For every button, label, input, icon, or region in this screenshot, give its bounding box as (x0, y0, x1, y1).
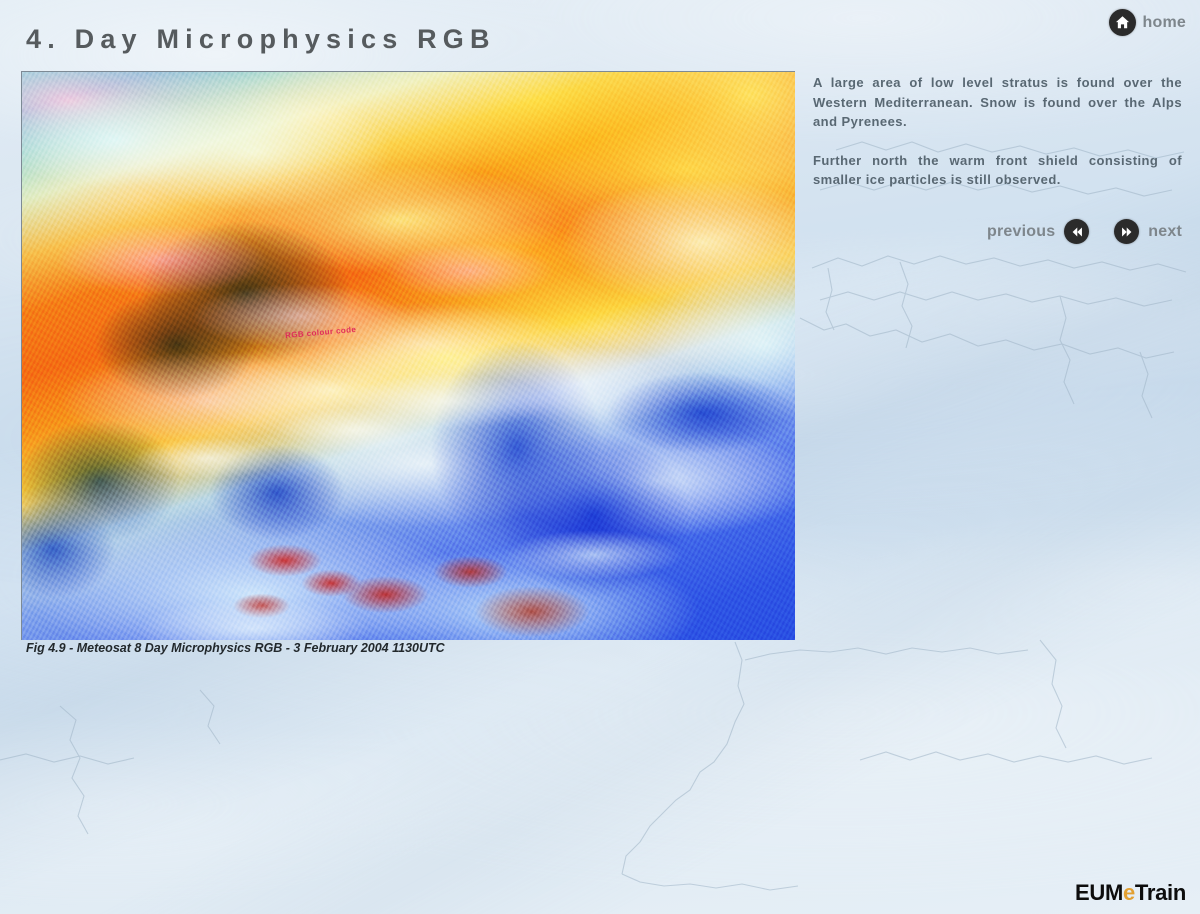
home-label[interactable]: home (1143, 14, 1186, 32)
description-paragraph-2: Further north the warm front shield cons… (813, 151, 1182, 190)
eumetrain-logo: EUMeTrain (1075, 880, 1186, 906)
logo-part-2: Train (1135, 880, 1186, 905)
page-title: 4. Day Microphysics RGB (26, 24, 496, 55)
pager: previous next (813, 219, 1182, 244)
satellite-layer-texture (22, 72, 795, 640)
previous-button[interactable]: previous (987, 219, 1089, 244)
satellite-image: RGB colour code (21, 71, 795, 640)
next-button[interactable]: next (1114, 219, 1182, 244)
slide-page: 4. Day Microphysics RGB home RGB colour … (0, 0, 1200, 914)
home-link[interactable]: home (1109, 9, 1186, 36)
next-label[interactable]: next (1148, 223, 1182, 241)
figure-caption: Fig 4.9 - Meteosat 8 Day Microphysics RG… (26, 641, 445, 655)
description-paragraph-1: A large area of low level stratus is fou… (813, 73, 1182, 132)
fast-forward-icon[interactable] (1114, 219, 1139, 244)
logo-part-1: EUM (1075, 880, 1123, 905)
home-icon[interactable] (1109, 9, 1136, 36)
previous-label[interactable]: previous (987, 223, 1055, 241)
rewind-icon[interactable] (1064, 219, 1089, 244)
logo-accent-e: e (1123, 880, 1135, 905)
description-panel: A large area of low level stratus is fou… (813, 73, 1182, 190)
